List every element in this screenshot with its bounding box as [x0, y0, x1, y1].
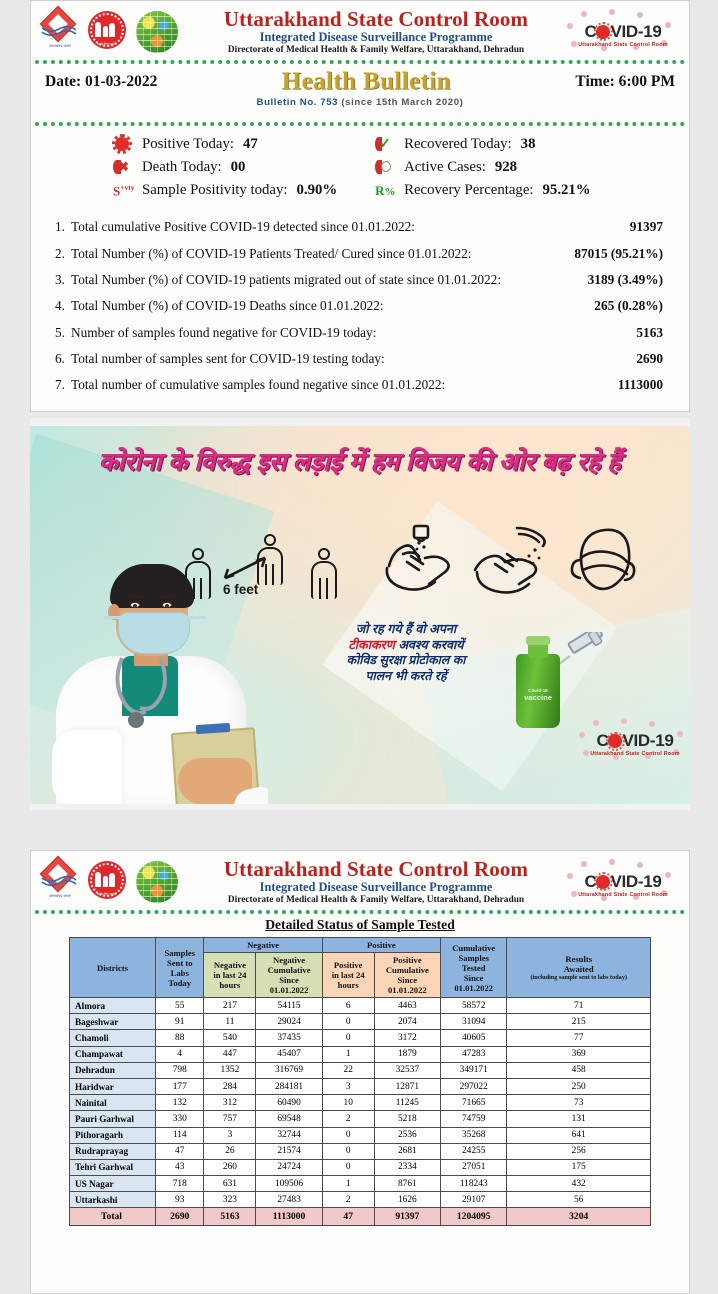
cell-district: Rudraprayag — [70, 1143, 156, 1159]
org-title-block: Uttarakhand State Control Room Integrate… — [189, 858, 563, 906]
national-health-mission-logo: सबके लिए स्वास्थ्य — [88, 860, 128, 904]
recovered-check-icon: ✓ — [375, 136, 395, 154]
cell-district: Haridwar — [70, 1078, 156, 1094]
cell-sent: 91 — [156, 1014, 204, 1030]
cell-pos24: 22 — [322, 1062, 374, 1078]
virus-o-icon — [596, 25, 610, 39]
cell-district: Pithoragarh — [70, 1127, 156, 1143]
cell-district: Tehri Garhwal — [70, 1159, 156, 1175]
nhm-logo-caption: सबके लिए स्वास्थ्य — [88, 892, 126, 896]
uk-logo-caption: उत्तराखण्ड शासन — [40, 893, 80, 898]
stats-row-1: Positive Today: 47 ✓ Recovered Today: 38 — [31, 133, 689, 156]
cell-neg24: 284 — [204, 1078, 256, 1094]
cell-awaited: 175 — [507, 1159, 651, 1175]
cell-negcum: 27483 — [256, 1192, 322, 1208]
cell-awaited: 641 — [507, 1127, 651, 1143]
org-header-secondary: उत्तराखण्ड शासन सबके लिए स्वास्थ्य Uttar… — [31, 851, 689, 909]
cell-sent: 4 — [156, 1046, 204, 1062]
cell-negcum: 37435 — [256, 1030, 322, 1046]
table-row: Uttarkashi9332327483216262910756 — [70, 1192, 651, 1208]
cell-pos24: 2 — [322, 1192, 374, 1208]
cell-neg24: 447 — [204, 1046, 256, 1062]
table-row: US Nagar71863110950618761118243432 — [70, 1176, 651, 1192]
cell-cumtested: 74759 — [441, 1111, 507, 1127]
list-item-value: 1113000 — [561, 377, 671, 393]
cell-neg24: 631 — [204, 1176, 256, 1192]
cell-pos24: 47 — [322, 1208, 374, 1225]
col-negative-cumulative: NegativeCumulativeSince01.01.2022 — [256, 953, 322, 998]
stat-label: Active Cases: — [404, 159, 486, 176]
bulletin-title: Health Bulletin — [157, 68, 575, 96]
covid-19-badge: CVID-19 Uttarakhand State Control Room — [563, 9, 681, 55]
cell-district: Dehradun — [70, 1062, 156, 1078]
table-row: Pauri Garhwal330757695482521874759131 — [70, 1111, 651, 1127]
cell-poscum: 32537 — [374, 1062, 440, 1078]
cell-sent: 2690 — [156, 1208, 204, 1225]
nhm-logo-caption: सबके लिए स्वास्थ्य — [88, 42, 126, 46]
cell-negcum: 109506 — [256, 1176, 322, 1192]
list-item-text: Total number of samples sent for COVID-1… — [71, 351, 561, 367]
covid-badge-subtitle: Uttarakhand State Control Room — [567, 892, 679, 898]
awareness-poster-panel: कोरोना के विरुद्ध इस लड़ाई में हम विजय क… — [30, 418, 690, 810]
cell-pos24: 6 — [322, 998, 374, 1014]
cell-pos24: 0 — [322, 1014, 374, 1030]
cell-negcum: 29024 — [256, 1014, 322, 1030]
list-item-text: Total Number (%) of COVID-19 Patients Tr… — [71, 246, 561, 262]
poster-message-line1: जो रह गये हैं वो अपना — [286, 622, 526, 638]
cell-poscum: 1879 — [374, 1046, 440, 1062]
cell-awaited: 215 — [507, 1014, 651, 1030]
org-subtitle: Integrated Disease Surveillance Programm… — [189, 30, 563, 44]
list-item-value: 2690 — [561, 351, 671, 367]
cell-district: Chamoli — [70, 1030, 156, 1046]
bulletin-time: Time: 6:00 PM — [575, 73, 675, 91]
hand-washing-icon — [471, 524, 563, 598]
org-title-block: Uttarakhand State Control Room Integrate… — [189, 8, 563, 56]
list-item: 5. Number of samples found negative for … — [51, 320, 671, 346]
cell-negcum: 21574 — [256, 1143, 322, 1159]
cell-pos24: 0 — [322, 1127, 374, 1143]
cell-awaited: 458 — [507, 1062, 651, 1078]
cell-poscum: 91397 — [374, 1208, 440, 1225]
logo-group: उत्तराखण्ड शासन सबके लिए स्वास्थ्य — [39, 859, 189, 905]
stat-recovery-percentage: R% Recovery Percentage: 95.21% — [375, 179, 689, 202]
cell-negcum: 284181 — [256, 1078, 322, 1094]
cell-poscum: 3172 — [374, 1030, 440, 1046]
table-group-header-row: Districts SamplesSent toLabsToday Negati… — [70, 938, 651, 953]
cell-pos24: 1 — [322, 1046, 374, 1062]
cell-sent: 114 — [156, 1127, 204, 1143]
stat-sample-positivity: S+vty Sample Positivity today: 0.90% — [31, 179, 375, 202]
cell-cumtested: 40605 — [441, 1030, 507, 1046]
col-positive-24h: Positivein last 24hours — [322, 953, 374, 998]
cell-cumtested: 349171 — [441, 1062, 507, 1078]
cell-pos24: 0 — [322, 1143, 374, 1159]
cell-pos24: 0 — [322, 1030, 374, 1046]
cell-sent: 93 — [156, 1192, 204, 1208]
list-item-text: Total Number (%) of COVID-19 Deaths sinc… — [71, 298, 561, 314]
bulletin-date: Date: 01-03-2022 — [45, 73, 157, 91]
table-row: Bageshwar9111290240207431094215 — [70, 1014, 651, 1030]
stat-value: 928 — [495, 159, 517, 176]
list-item-number: 2. — [51, 246, 71, 262]
stat-recovered-today: ✓ Recovered Today: 38 — [375, 133, 689, 156]
idsp-globe-logo — [135, 860, 179, 904]
cell-negcum: 60490 — [256, 1095, 322, 1111]
bulletin-number: Bulletin No. 753 (since 15th March 2020) — [45, 97, 675, 108]
list-item-value: 91397 — [561, 219, 671, 235]
stat-label: Sample Positivity today: — [142, 182, 288, 199]
org-header: उत्तराखण्ड शासन सबके लिए स्वास्थ्य Uttar… — [31, 1, 689, 59]
covid-badge-subtitle: Uttarakhand State Control Room — [567, 42, 679, 48]
virus-icon — [113, 136, 133, 154]
cell-neg24: 540 — [204, 1030, 256, 1046]
org-directorate: Directorate of Medical Health & Family W… — [189, 44, 563, 56]
cell-sent: 718 — [156, 1176, 204, 1192]
list-item-number: 6. — [51, 351, 71, 367]
stat-label: Recovery Percentage: — [404, 182, 533, 199]
cell-cumtested: 24255 — [441, 1143, 507, 1159]
list-item-number: 7. — [51, 377, 71, 393]
covid-badge-text: CVID-19 — [575, 22, 671, 42]
cell-awaited: 432 — [507, 1176, 651, 1192]
cell-district: Nainital — [70, 1095, 156, 1111]
cell-pos24: 3 — [322, 1078, 374, 1094]
cell-sent: 88 — [156, 1030, 204, 1046]
table-row: Almora5521754115644635857271 — [70, 998, 651, 1014]
org-subtitle: Integrated Disease Surveillance Programm… — [189, 880, 563, 894]
col-positive-cumulative: PositiveCumulativeSince01.01.2022 — [374, 953, 440, 998]
hand-sanitizer-icon — [381, 524, 465, 598]
stat-value: 0.90% — [297, 182, 338, 199]
summary-stats: Positive Today: 47 ✓ Recovered Today: 38… — [31, 127, 689, 206]
poster-covid-19-badge: CVID-19 Uttarakhand State Control Room — [575, 718, 687, 770]
list-item-number: 1. — [51, 219, 71, 235]
cell-awaited: 369 — [507, 1046, 651, 1062]
cell-cumtested: 71665 — [441, 1095, 507, 1111]
org-directorate: Directorate of Medical Health & Family W… — [189, 894, 563, 906]
cell-sent: 798 — [156, 1062, 204, 1078]
cell-district: US Nagar — [70, 1176, 156, 1192]
table-wrapper: Districts SamplesSent toLabsToday Negati… — [31, 937, 689, 1234]
list-item-number: 3. — [51, 272, 71, 288]
list-item: 3. Total Number (%) of COVID-19 patients… — [51, 267, 671, 293]
cell-sent: 55 — [156, 998, 204, 1014]
list-item-text: Total cumulative Positive COVID-19 detec… — [71, 219, 561, 235]
cell-poscum: 2681 — [374, 1143, 440, 1159]
cell-awaited: 71 — [507, 998, 651, 1014]
vial-label: Covid-19 vaccine — [517, 688, 559, 702]
cell-negcum: 45407 — [256, 1046, 322, 1062]
stat-death-today: ✖ Death Today: 00 — [31, 156, 375, 179]
cumulative-figures-list: 1. Total cumulative Positive COVID-19 de… — [31, 206, 689, 409]
cell-cumtested: 297022 — [441, 1078, 507, 1094]
bulletin-since: (since 15th March 2020) — [341, 97, 463, 108]
cell-poscum: 11245 — [374, 1095, 440, 1111]
list-item: 7. Total number of cumulative samples fo… — [51, 372, 671, 398]
cell-negcum: 54115 — [256, 998, 322, 1014]
face-mask-icon — [567, 526, 641, 596]
covid-badge-text: CVID-19 — [587, 731, 683, 751]
bulletin-title-bar: Date: 01-03-2022 Health Bulletin Time: 6… — [31, 65, 689, 121]
uttarakhand-government-logo: उत्तराखण्ड शासन — [39, 859, 81, 905]
cell-poscum: 2536 — [374, 1127, 440, 1143]
cell-neg24: 312 — [204, 1095, 256, 1111]
table-row: Tehri Garhwal43260247240233427051175 — [70, 1159, 651, 1175]
list-item-value: 265 (0.28%) — [561, 298, 671, 314]
cell-poscum: 1626 — [374, 1192, 440, 1208]
active-cases-icon — [375, 159, 395, 177]
org-title: Uttarakhand State Control Room — [189, 8, 563, 30]
list-item-number: 5. — [51, 325, 71, 341]
uttarakhand-government-logo: उत्तराखण्ड शासन — [39, 9, 81, 55]
list-item-text: Total Number (%) of COVID-19 patients mi… — [71, 272, 561, 288]
cell-pos24: 1 — [322, 1176, 374, 1192]
vial-label-bottom: vaccine — [517, 693, 559, 702]
cell-awaited: 73 — [507, 1095, 651, 1111]
list-item: 6. Total number of samples sent for COVI… — [51, 346, 671, 372]
covid-badge-subtitle: Uttarakhand State Control Room — [579, 751, 690, 757]
stat-value: 38 — [521, 136, 536, 153]
cell-awaited: 256 — [507, 1143, 651, 1159]
divider-dotted-mid — [35, 122, 685, 127]
cell-district: Almora — [70, 998, 156, 1014]
stat-label: Death Today: — [142, 159, 222, 176]
table-row: Champawat4447454071187947283369 — [70, 1046, 651, 1062]
divider-dotted-table — [35, 910, 685, 915]
list-item-number: 4. — [51, 298, 71, 314]
cell-neg24: 11 — [204, 1014, 256, 1030]
cell-neg24: 3 — [204, 1127, 256, 1143]
cell-negcum: 316769 — [256, 1062, 322, 1078]
cell-district: Uttarkashi — [70, 1192, 156, 1208]
cell-sent: 132 — [156, 1095, 204, 1111]
logo-group: उत्तराखण्ड शासन सबके लिए स्वास्थ्य — [39, 9, 189, 55]
list-item: 4. Total Number (%) of COVID-19 Deaths s… — [51, 293, 671, 319]
stats-row-3: S+vty Sample Positivity today: 0.90% R% … — [31, 179, 689, 202]
sample-table-panel: उत्तराखण्ड शासन सबके लिए स्वास्थ्य Uttar… — [30, 850, 690, 1294]
table-row: Haridwar177284284181312871297022250 — [70, 1078, 651, 1094]
cell-negcum: 32744 — [256, 1127, 322, 1143]
cell-neg24: 323 — [204, 1192, 256, 1208]
cell-pos24: 10 — [322, 1095, 374, 1111]
national-health-mission-logo: सबके लिए स्वास्थ्य — [88, 10, 128, 54]
cell-cumtested: 35268 — [441, 1127, 507, 1143]
cell-sent: 43 — [156, 1159, 204, 1175]
covid-19-badge: CVID-19 Uttarakhand State Control Room — [563, 859, 681, 905]
cell-district: Pauri Garhwal — [70, 1111, 156, 1127]
cell-district: Bageshwar — [70, 1014, 156, 1030]
vial-cap — [526, 636, 550, 645]
list-item-value: 3189 (3.49%) — [561, 272, 671, 288]
cell-district: Champawat — [70, 1046, 156, 1062]
col-districts: Districts — [70, 938, 156, 998]
cell-district: Total — [70, 1208, 156, 1225]
cell-sent: 47 — [156, 1143, 204, 1159]
col-group-positive: Positive — [322, 938, 440, 953]
cell-pos24: 2 — [322, 1111, 374, 1127]
cell-cumtested: 31094 — [441, 1014, 507, 1030]
cell-poscum: 4463 — [374, 998, 440, 1014]
stat-label: Recovered Today: — [404, 136, 512, 153]
awareness-poster: कोरोना के विरुद्ध इस लड़ाई में हम विजय क… — [30, 426, 690, 804]
stat-active-cases: Active Cases: 928 — [375, 156, 689, 179]
virus-o-icon — [596, 875, 610, 889]
cell-poscum: 5218 — [374, 1111, 440, 1127]
bulletin-panel: उत्तराखण्ड शासन सबके लिए स्वास्थ्य Uttar… — [30, 0, 690, 412]
cell-poscum: 8761 — [374, 1176, 440, 1192]
cell-cumtested: 29107 — [441, 1192, 507, 1208]
cell-cumtested: 118243 — [441, 1176, 507, 1192]
cell-cumtested: 47283 — [441, 1046, 507, 1062]
stats-row-2: ✖ Death Today: 00 Active Cases: 928 — [31, 156, 689, 179]
sample-positivity-icon: S+vty — [113, 182, 133, 200]
col-results-awaited-note: (including sample sent to labs today) — [508, 974, 649, 981]
stat-positive-today: Positive Today: 47 — [31, 133, 375, 156]
cell-awaited: 56 — [507, 1192, 651, 1208]
virus-o-icon — [608, 734, 622, 748]
col-results-awaited: ResultsAwaited(including sample sent to … — [507, 938, 651, 998]
table-total-row: Total269051631113000479139712040953204 — [70, 1208, 651, 1225]
list-item-value: 5163 — [561, 325, 671, 341]
cell-neg24: 217 — [204, 998, 256, 1014]
cell-poscum: 12871 — [374, 1078, 440, 1094]
cell-awaited: 250 — [507, 1078, 651, 1094]
stat-value: 47 — [243, 136, 258, 153]
poster-message-line2: टीकाकरण अवश्य करवायें — [286, 638, 526, 654]
col-cumulative-tested: CumulativeSamplesTestedSince01.01.2022 — [441, 938, 507, 998]
idsp-globe-logo — [135, 10, 179, 54]
cell-negcum: 1113000 — [256, 1208, 322, 1225]
covid-badge-text: CVID-19 — [575, 872, 671, 892]
table-title: Detailed Status of Sample Tested — [31, 915, 689, 937]
table-row: Pithoragarh1143327440253635268641 — [70, 1127, 651, 1143]
list-item: 1. Total cumulative Positive COVID-19 de… — [51, 214, 671, 240]
cell-neg24: 260 — [204, 1159, 256, 1175]
cell-negcum: 69548 — [256, 1111, 322, 1127]
death-icon: ✖ — [113, 159, 133, 177]
table-body: Almora5521754115644635857271 Bageshwar91… — [70, 998, 651, 1226]
cell-sent: 177 — [156, 1078, 204, 1094]
stat-value: 00 — [231, 159, 246, 176]
table-row: Chamoli8854037435031724060577 — [70, 1030, 651, 1046]
district-sample-table: Districts SamplesSent toLabsToday Negati… — [69, 937, 651, 1226]
col-group-negative: Negative — [204, 938, 322, 953]
health-bulletin-page: उत्तराखण्ड शासन सबके लिए स्वास्थ्य Uttar… — [0, 0, 718, 1294]
stat-label: Positive Today: — [142, 136, 234, 153]
cell-negcum: 24724 — [256, 1159, 322, 1175]
cell-neg24: 5163 — [204, 1208, 256, 1225]
poster-headline: कोरोना के विरुद्ध इस लड़ाई में हम विजय क… — [30, 444, 690, 478]
cell-poscum: 2334 — [374, 1159, 440, 1175]
cell-sent: 330 — [156, 1111, 204, 1127]
list-item-value: 87015 (95.21%) — [561, 246, 671, 262]
col-samples-sent-today: SamplesSent toLabsToday — [156, 938, 204, 998]
cell-awaited: 3204 — [507, 1208, 651, 1225]
cell-cumtested: 27051 — [441, 1159, 507, 1175]
table-head: Districts SamplesSent toLabsToday Negati… — [70, 938, 651, 998]
cell-awaited: 131 — [507, 1111, 651, 1127]
cell-awaited: 77 — [507, 1030, 651, 1046]
poster-message-line4: पालन भी करते रहें — [286, 669, 526, 685]
cell-neg24: 757 — [204, 1111, 256, 1127]
cell-neg24: 26 — [204, 1143, 256, 1159]
list-item-text: Number of samples found negative for COV… — [71, 325, 561, 341]
cell-cumtested: 58572 — [441, 998, 507, 1014]
org-title: Uttarakhand State Control Room — [189, 858, 563, 880]
stat-value: 95.21% — [543, 182, 591, 199]
list-item: 2. Total Number (%) of COVID-19 Patients… — [51, 240, 671, 266]
list-item-text: Total number of cumulative samples found… — [71, 377, 561, 393]
cell-cumtested: 1204095 — [441, 1208, 507, 1225]
table-row: Rudraprayag4726215740268124255256 — [70, 1143, 651, 1159]
table-row: Dehradun79813523167692232537349171458 — [70, 1062, 651, 1078]
cell-poscum: 2074 — [374, 1014, 440, 1030]
uk-logo-caption: उत्तराखण्ड शासन — [40, 43, 80, 48]
recovery-percent-icon: R% — [375, 182, 395, 200]
poster-message: जो रह गये हैं वो अपना टीकाकरण अवश्य करवा… — [286, 622, 526, 684]
poster-message-line3: कोविड सुरक्षा प्रोटोकाल का — [286, 653, 526, 669]
cell-pos24: 0 — [322, 1159, 374, 1175]
doctor-illustration — [38, 552, 268, 804]
cell-neg24: 1352 — [204, 1062, 256, 1078]
table-row: Nainital1323126049010112457166573 — [70, 1095, 651, 1111]
col-negative-24h: Negativein last 24hours — [204, 953, 256, 998]
